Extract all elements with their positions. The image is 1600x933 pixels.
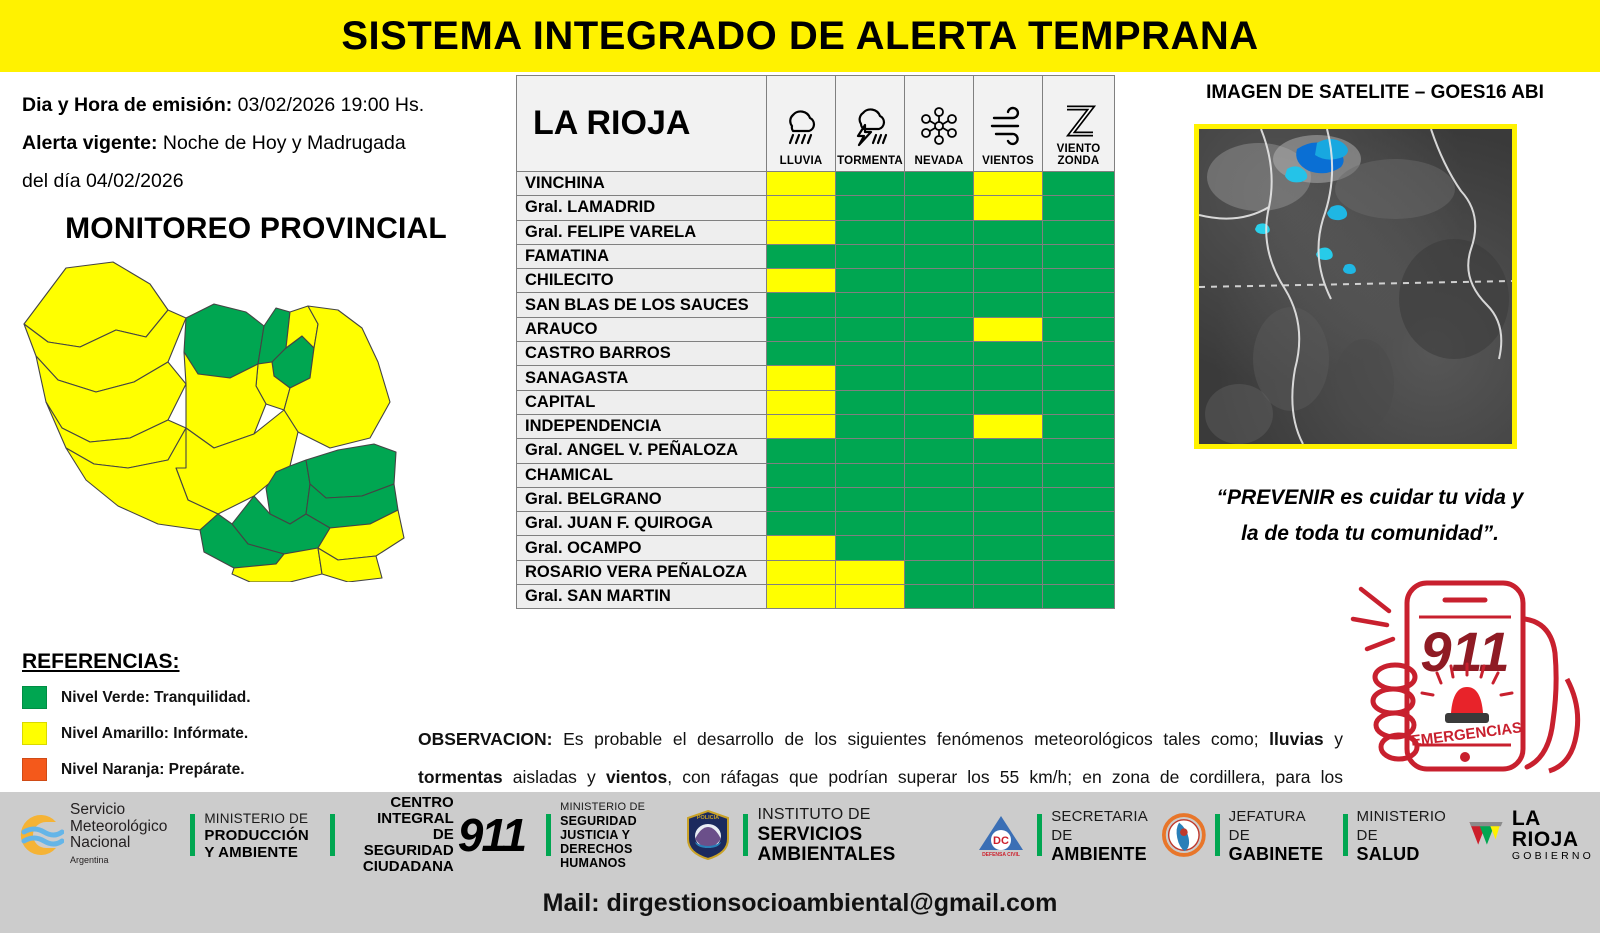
column-header-tormenta: TORMENTA	[836, 76, 905, 172]
cis-line-3: CIUDADANA	[344, 859, 454, 875]
table-row: ROSARIO VERA PEÑALOZA	[517, 560, 1115, 584]
alert-cell-vientos	[974, 293, 1043, 317]
map-region-vinchina	[24, 262, 168, 347]
legend-item-amarillo: Nivel Amarillo: Infórmate.	[22, 722, 422, 745]
observation-label: OBSERVACION:	[418, 729, 553, 749]
alert-cell-lluvia	[767, 536, 836, 560]
alert-cell-tormenta	[836, 269, 905, 293]
logo-ministerio-salud: MINISTERIO DE SALUD	[1334, 800, 1452, 870]
ministerio-produccion-bot: PRODUCCIÓNY AMBIENTE	[204, 827, 309, 861]
ministerio-produccion-top: MINISTERIO DE	[204, 810, 309, 827]
contact-mail: Mail: dirgestionsocioambiental@gmail.com	[0, 878, 1600, 928]
alert-cell-lluvia	[767, 293, 836, 317]
department-name: CASTRO BARROS	[517, 342, 767, 366]
salud-top: MINISTERIO DE	[1357, 807, 1452, 845]
defensa-civil-icon: DC DEFENSA CIVIL	[976, 810, 1026, 860]
smn-line-1: Servicio	[70, 802, 167, 819]
legend-item-verde: Nivel Verde: Tranquilidad.	[22, 686, 422, 709]
alert-cell-viento-zonda	[1043, 244, 1115, 268]
alert-cell-viento-zonda	[1043, 196, 1115, 220]
alert-cell-lluvia	[767, 172, 836, 196]
alert-validity-value: Noche de Hoy y Madrugada	[163, 132, 406, 154]
alert-cell-lluvia	[767, 317, 836, 341]
page-title: SISTEMA INTEGRADO DE ALERTA TEMPRANA	[341, 14, 1258, 59]
alert-cell-tormenta	[836, 512, 905, 536]
jefatura-bot: GABINETE	[1229, 845, 1326, 864]
alert-cell-viento-zonda	[1043, 512, 1115, 536]
references-title: REFERENCIAS:	[22, 650, 422, 674]
svg-text:POLICIA: POLICIA	[697, 815, 719, 821]
alert-cell-lluvia	[767, 366, 836, 390]
column-header-vientos: VIENTOS	[974, 76, 1043, 172]
logo-defensa-civil: DC DEFENSA CIVIL	[976, 800, 1026, 870]
department-name: INDEPENDENCIA	[517, 414, 767, 438]
alert-cell-vientos	[974, 585, 1043, 609]
logo-instituto-servicios-ambientales: INSTITUTO DE SERVICIOS AMBIENTALES	[734, 800, 966, 870]
alert-cell-vientos	[974, 512, 1043, 536]
alert-table: LA RIOJA LLUVIA	[516, 75, 1115, 609]
la-rioja-name: LA RIOJA	[1512, 808, 1600, 850]
la-rioja-flag-icon	[1466, 814, 1506, 856]
logo-strip: Servicio Meteorológico Nacional Argentin…	[0, 792, 1600, 878]
alert-cell-viento-zonda	[1043, 269, 1115, 293]
alert-cell-vientos	[974, 317, 1043, 341]
smn-logo-text: Servicio Meteorológico Nacional Argentin…	[70, 802, 167, 868]
alert-validity-line2: del día 04/02/2026	[22, 162, 512, 200]
green-divider-bar	[190, 814, 195, 856]
alert-cell-nevada	[905, 536, 974, 560]
department-name: ROSARIO VERA PEÑALOZA	[517, 560, 767, 584]
alert-cell-nevada	[905, 390, 974, 414]
right-panel: IMAGEN DE SATELITE – GOES16 ABI	[1150, 72, 1600, 792]
table-row: Gral. OCAMPO	[517, 536, 1115, 560]
ministerio-seguridad-text: MINISTERIO DE SEGURIDADJUSTICIA YDERECHO…	[560, 800, 678, 870]
column-header-nevada: NEVADA	[905, 76, 974, 172]
table-row: Gral. JUAN F. QUIROGA	[517, 512, 1115, 536]
department-name: FAMATINA	[517, 244, 767, 268]
alert-cell-nevada	[905, 244, 974, 268]
department-name: SANAGASTA	[517, 366, 767, 390]
green-divider-bar-7	[1343, 814, 1348, 856]
alert-cell-tormenta	[836, 390, 905, 414]
alert-cell-viento-zonda	[1043, 317, 1115, 341]
table-row: CASTRO BARROS	[517, 342, 1115, 366]
table-row: VINCHINA	[517, 172, 1115, 196]
alert-cell-tormenta	[836, 317, 905, 341]
alert-cell-lluvia	[767, 585, 836, 609]
table-row: INDEPENDENCIA	[517, 414, 1115, 438]
left-panel: Dia y Hora de emisión: 03/02/2026 19:00 …	[0, 72, 512, 792]
alert-table-body: VINCHINAGral. LAMADRIDGral. FELIPE VAREL…	[517, 172, 1115, 609]
observation-bold-tormentas: tormentas	[418, 767, 503, 787]
alert-cell-tormenta	[836, 439, 905, 463]
alert-cell-vientos	[974, 414, 1043, 438]
department-name: CHILECITO	[517, 269, 767, 293]
alert-cell-vientos	[974, 244, 1043, 268]
alert-cell-viento-zonda	[1043, 585, 1115, 609]
alert-cell-vientos	[974, 463, 1043, 487]
instituto-top: INSTITUTO DE	[757, 805, 966, 825]
satellite-image-svg	[1199, 129, 1512, 444]
alert-cell-tormenta	[836, 585, 905, 609]
jefatura-top: JEFATURA DE	[1229, 807, 1326, 845]
secretaria-ambiente-text: SECRETARIA DE AMBIENTE	[1051, 807, 1152, 864]
smn-line-4: Argentina	[70, 852, 167, 869]
alert-cell-vientos	[974, 269, 1043, 293]
table-row: CHAMICAL	[517, 463, 1115, 487]
thunderstorm-cloud-icon	[836, 97, 904, 155]
alert-cell-nevada	[905, 439, 974, 463]
main-content: Dia y Hora de emisión: 03/02/2026 19:00 …	[0, 72, 1600, 792]
alert-cell-nevada	[905, 342, 974, 366]
alert-cell-lluvia	[767, 342, 836, 366]
min-seguridad-bot: SEGURIDADJUSTICIA YDERECHOS HUMANOS	[560, 814, 678, 870]
alert-cell-lluvia	[767, 220, 836, 244]
alert-cell-tormenta	[836, 342, 905, 366]
alert-cell-nevada	[905, 196, 974, 220]
department-name: Gral. JUAN F. QUIROGA	[517, 512, 767, 536]
logo-servicio-meteorologico-nacional: Servicio Meteorológico Nacional Argentin…	[12, 800, 167, 870]
alert-cell-lluvia	[767, 196, 836, 220]
department-name: Gral. SAN MARTIN	[517, 585, 767, 609]
alert-cell-nevada	[905, 293, 974, 317]
instituto-text: INSTITUTO DE SERVICIOS AMBIENTALES	[757, 805, 966, 865]
alert-cell-nevada	[905, 220, 974, 244]
alert-cell-viento-zonda	[1043, 560, 1115, 584]
table-header-row: LA RIOJA LLUVIA	[517, 76, 1115, 172]
column-label-lluvia: LLUVIA	[767, 155, 835, 167]
alert-cell-tormenta	[836, 220, 905, 244]
table-row: Gral. BELGRANO	[517, 487, 1115, 511]
department-name: Gral. BELGRANO	[517, 487, 767, 511]
la-rioja-text: LA RIOJA GOBIERNO	[1512, 808, 1600, 862]
alert-cell-nevada	[905, 560, 974, 584]
table-row: ARAUCO	[517, 317, 1115, 341]
salud-bot: SALUD	[1357, 845, 1452, 864]
legend-swatch-yellow	[22, 722, 47, 745]
table-row: SAN BLAS DE LOS SAUCES	[517, 293, 1115, 317]
alert-cell-viento-zonda	[1043, 463, 1115, 487]
column-label-tormenta: TORMENTA	[836, 155, 904, 167]
legend-label-green: Nivel Verde: Tranquilidad.	[61, 689, 251, 707]
jefatura-seal-icon	[1162, 812, 1206, 858]
alert-cell-nevada	[905, 414, 974, 438]
ministerio-produccion-text: MINISTERIO DE PRODUCCIÓNY AMBIENTE	[204, 810, 309, 861]
table-row: Gral. FELIPE VARELA	[517, 220, 1115, 244]
alert-cell-vientos	[974, 487, 1043, 511]
table-row: CAPITAL	[517, 390, 1115, 414]
table-row: FAMATINA	[517, 244, 1115, 268]
alert-cell-nevada	[905, 585, 974, 609]
table-row: Gral. LAMADRID	[517, 196, 1115, 220]
province-map	[0, 252, 512, 582]
alert-cell-viento-zonda	[1043, 172, 1115, 196]
alert-cell-tormenta	[836, 293, 905, 317]
alert-cell-vientos	[974, 196, 1043, 220]
column-header-lluvia: LLUVIA	[767, 76, 836, 172]
logo-ministerio-seguridad-justicia: MINISTERIO DE SEGURIDADJUSTICIA YDERECHO…	[537, 800, 678, 870]
alert-cell-nevada	[905, 366, 974, 390]
alert-cell-lluvia	[767, 487, 836, 511]
column-label-viento-zonda: VIENTOZONDA	[1043, 143, 1114, 167]
svg-text:DC: DC	[993, 835, 1009, 847]
alert-cell-tormenta	[836, 196, 905, 220]
wind-icon	[974, 97, 1042, 155]
department-name: Gral. FELIPE VARELA	[517, 220, 767, 244]
alert-cell-vientos	[974, 172, 1043, 196]
legend-label-orange: Nivel Naranja: Prepárate.	[61, 761, 245, 779]
alert-cell-tormenta	[836, 560, 905, 584]
column-label-vientos: VIENTOS	[974, 155, 1042, 167]
logo-centro-integral-seguridad: CENTRO INTEGRAL DE SEGURIDAD CIUDADANA 9…	[321, 800, 525, 870]
department-name: Gral. OCAMPO	[517, 536, 767, 560]
green-divider-bar-2	[330, 814, 335, 856]
alert-cell-tormenta	[836, 487, 905, 511]
defensa-civil-sub1: DEFENSA CIVIL	[982, 852, 1020, 858]
alert-cell-tormenta	[836, 244, 905, 268]
secretaria-bot: AMBIENTE	[1051, 845, 1152, 864]
alert-cell-lluvia	[767, 560, 836, 584]
legend-label-yellow: Nivel Amarillo: Infórmate.	[61, 725, 248, 743]
la-rioja-map-svg	[18, 252, 438, 582]
logo-jefatura-gabinete: JEFATURA DE GABINETE	[1162, 800, 1326, 870]
cis-line-1: CENTRO INTEGRAL	[344, 795, 454, 827]
alert-cell-lluvia	[767, 269, 836, 293]
alert-cell-nevada	[905, 172, 974, 196]
alert-cell-tormenta	[836, 463, 905, 487]
smn-line-3: Nacional	[70, 835, 167, 852]
alert-cell-vientos	[974, 536, 1043, 560]
emission-label: Dia y Hora de emisión:	[22, 94, 232, 116]
alert-cell-tormenta	[836, 536, 905, 560]
alert-cell-lluvia	[767, 390, 836, 414]
quote-line-1: “PREVENIR es cuidar tu vida y	[1170, 480, 1570, 516]
min-seguridad-top: MINISTERIO DE	[560, 800, 678, 814]
department-name: SAN BLAS DE LOS SAUCES	[517, 293, 767, 317]
legend-swatch-orange	[22, 758, 47, 781]
alert-cell-viento-zonda	[1043, 220, 1115, 244]
table-row: Gral. SAN MARTIN	[517, 585, 1115, 609]
emission-line: Dia y Hora de emisión: 03/02/2026 19:00 …	[22, 86, 512, 124]
satellite-title: IMAGEN DE SATELITE – GOES16 ABI	[1150, 82, 1600, 104]
alert-cell-vientos	[974, 390, 1043, 414]
instituto-bot: SERVICIOS AMBIENTALES	[757, 825, 966, 865]
department-name: VINCHINA	[517, 172, 767, 196]
prevention-quote: “PREVENIR es cuidar tu vida y la de toda…	[1170, 480, 1570, 552]
alert-table-container: LA RIOJA LLUVIA	[516, 75, 1115, 609]
logo-la-rioja-gobierno: LA RIOJA GOBIERNO	[1466, 800, 1600, 870]
emission-value: 03/02/2026 19:00 Hs.	[238, 94, 424, 116]
alert-cell-nevada	[905, 317, 974, 341]
cis-911-number: 911	[458, 808, 525, 862]
emergency-911-graphic: 911 EMERGENCIAS	[1345, 567, 1590, 782]
alert-cell-tormenta	[836, 366, 905, 390]
footer: Servicio Meteorológico Nacional Argentin…	[0, 792, 1600, 933]
green-divider-bar-4	[743, 814, 748, 856]
alert-cell-tormenta	[836, 172, 905, 196]
alert-cell-vientos	[974, 342, 1043, 366]
alert-cell-nevada	[905, 487, 974, 511]
la-rioja-sub: GOBIERNO	[1512, 850, 1600, 862]
alert-cell-nevada	[905, 512, 974, 536]
jefatura-text: JEFATURA DE GABINETE	[1229, 807, 1326, 864]
legend-swatch-green	[22, 686, 47, 709]
alert-cell-vientos	[974, 439, 1043, 463]
centro-integral-text: CENTRO INTEGRAL DE SEGURIDAD CIUDADANA	[344, 795, 454, 875]
logo-ministerio-produccion-ambiente: MINISTERIO DE PRODUCCIÓNY AMBIENTE	[181, 800, 309, 870]
department-name: CAPITAL	[517, 390, 767, 414]
logo-secretaria-ambiente: SECRETARIA DE AMBIENTE	[1028, 800, 1152, 870]
alert-cell-viento-zonda	[1043, 390, 1115, 414]
green-divider-bar-3	[546, 814, 551, 856]
alert-cell-tormenta	[836, 414, 905, 438]
smn-line-2: Meteorológico	[70, 819, 167, 836]
cis-line-2: DE SEGURIDAD	[344, 827, 454, 859]
column-header-viento-zonda: VIENTOZONDA	[1043, 76, 1115, 172]
alert-cell-viento-zonda	[1043, 342, 1115, 366]
alert-cell-lluvia	[767, 463, 836, 487]
column-label-nevada: NEVADA	[905, 155, 973, 167]
table-row: CHILECITO	[517, 269, 1115, 293]
alert-cell-lluvia	[767, 512, 836, 536]
observation-part3: aisladas y	[503, 767, 606, 787]
alert-cell-nevada	[905, 463, 974, 487]
satellite-image	[1194, 124, 1517, 449]
ministerio-salud-text: MINISTERIO DE SALUD	[1357, 807, 1452, 864]
emergency-phone-icon: 911 EMERGENCIAS	[1345, 567, 1590, 777]
table-row: SANAGASTA	[517, 366, 1115, 390]
department-name: Gral. LAMADRID	[517, 196, 767, 220]
smn-logo-icon	[12, 810, 64, 860]
legend-item-naranja: Nivel Naranja: Prepárate.	[22, 758, 422, 781]
zonda-wind-z-icon	[1043, 99, 1114, 143]
alert-cell-lluvia	[767, 244, 836, 268]
snowflakes-icon	[905, 97, 973, 155]
alert-cell-vientos	[974, 220, 1043, 244]
alert-cell-vientos	[974, 560, 1043, 584]
alert-cell-nevada	[905, 269, 974, 293]
green-divider-bar-6	[1215, 814, 1220, 856]
table-row: Gral. ANGEL V. PEÑALOZA	[517, 439, 1115, 463]
alert-validity-line: Alerta vigente: Noche de Hoy y Madrugada	[22, 124, 512, 162]
alert-cell-lluvia	[767, 414, 836, 438]
alert-cell-viento-zonda	[1043, 293, 1115, 317]
quote-line-2: la de toda tu comunidad”.	[1170, 516, 1570, 552]
police-badge-icon: POLICIA	[686, 809, 730, 861]
header-banner: SISTEMA INTEGRADO DE ALERTA TEMPRANA	[0, 0, 1600, 72]
monitoring-title: MONITOREO PROVINCIAL	[0, 212, 512, 246]
alert-cell-vientos	[974, 366, 1043, 390]
alert-cell-viento-zonda	[1043, 536, 1115, 560]
department-name: Gral. ANGEL V. PEÑALOZA	[517, 439, 767, 463]
alert-cell-viento-zonda	[1043, 366, 1115, 390]
rain-cloud-icon	[767, 97, 835, 155]
province-name-header: LA RIOJA	[517, 76, 767, 172]
alert-validity-label: Alerta vigente:	[22, 132, 157, 154]
alert-cell-viento-zonda	[1043, 439, 1115, 463]
alert-cell-viento-zonda	[1043, 487, 1115, 511]
alert-cell-lluvia	[767, 439, 836, 463]
alert-cell-viento-zonda	[1043, 414, 1115, 438]
secretaria-top: SECRETARIA DE	[1051, 807, 1152, 845]
observation-bold-vientos: vientos	[606, 767, 667, 787]
department-name: CHAMICAL	[517, 463, 767, 487]
department-name: ARAUCO	[517, 317, 767, 341]
logo-policia-la-rioja: POLICIA	[686, 800, 730, 870]
green-divider-bar-5	[1037, 814, 1042, 856]
